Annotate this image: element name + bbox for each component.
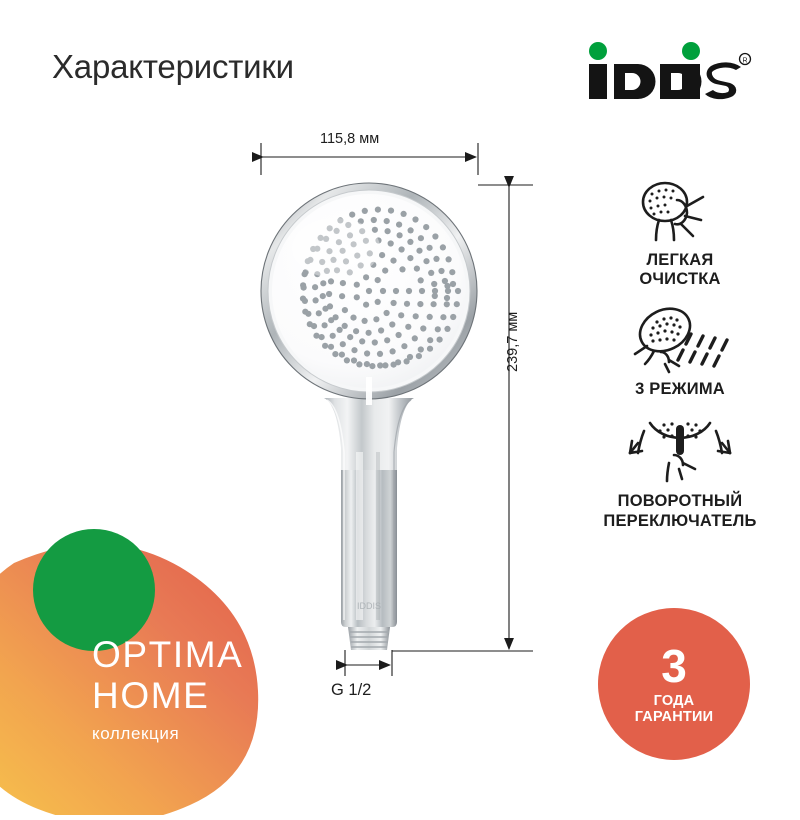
page-title: Характеристики	[52, 48, 294, 86]
logo-letter-i1	[589, 64, 607, 99]
rotary-switch-icon	[560, 419, 800, 485]
nozzle-dots	[300, 207, 461, 370]
warranty-number: 3	[661, 643, 687, 689]
shower-spray-modes-icon	[560, 307, 800, 373]
svg-text:R: R	[742, 58, 747, 65]
collection-text: OPTIMA HOME коллекция	[92, 635, 243, 744]
collection-name: OPTIMA HOME	[92, 635, 243, 716]
dimension-width	[261, 143, 478, 175]
dimension-thread-label: G 1/2	[331, 681, 371, 700]
feature-label: ПОВОРОТНЫЙ ПЕРЕКЛЮЧАТЕЛЬ	[560, 492, 800, 530]
face-slot	[366, 377, 372, 405]
shower-handle: IDDIS	[324, 398, 414, 627]
logo-dot-i2	[682, 42, 700, 60]
shower-head-face	[261, 183, 477, 405]
collection-subtitle: коллекция	[92, 724, 243, 744]
feature-list: ЛЕГКАЯ ОЧИСТКА	[560, 178, 800, 545]
logo-letter-d1	[614, 64, 655, 99]
shower-thread-connector	[348, 627, 390, 650]
trademark-icon: R	[740, 54, 751, 65]
feature-label: 3 РЕЖИМА	[560, 380, 800, 399]
warranty-badge: 3 ГОДА ГАРАНТИИ	[598, 608, 750, 760]
feature-label: ЛЕГКАЯ ОЧИСТКА	[560, 251, 800, 289]
dimension-thread	[345, 650, 392, 676]
feature-rotary-switch: ПОВОРОТНЫЙ ПЕРЕКЛЮЧАТЕЛЬ	[560, 419, 800, 530]
logo-dot-i1	[589, 42, 607, 60]
hand-cleaning-shower-icon	[560, 178, 800, 244]
dimension-width-label: 115,8 мм	[320, 131, 379, 147]
dimension-height	[392, 185, 533, 651]
handle-engraving: IDDIS	[357, 601, 381, 611]
feature-three-modes: 3 РЕЖИМА	[560, 307, 800, 399]
collection-accent-circle	[33, 529, 155, 651]
brand-logo-iddis: R	[578, 40, 758, 100]
logo-letter-s	[705, 62, 741, 99]
warranty-text: ГОДА ГАРАНТИИ	[635, 693, 713, 725]
logo-letter-i2	[682, 64, 700, 99]
shower-neck	[324, 398, 414, 470]
feature-easy-cleaning: ЛЕГКАЯ ОЧИСТКА	[560, 178, 800, 289]
dimension-height-label: 239,7 мм	[505, 312, 521, 372]
switch-lever	[676, 425, 684, 455]
